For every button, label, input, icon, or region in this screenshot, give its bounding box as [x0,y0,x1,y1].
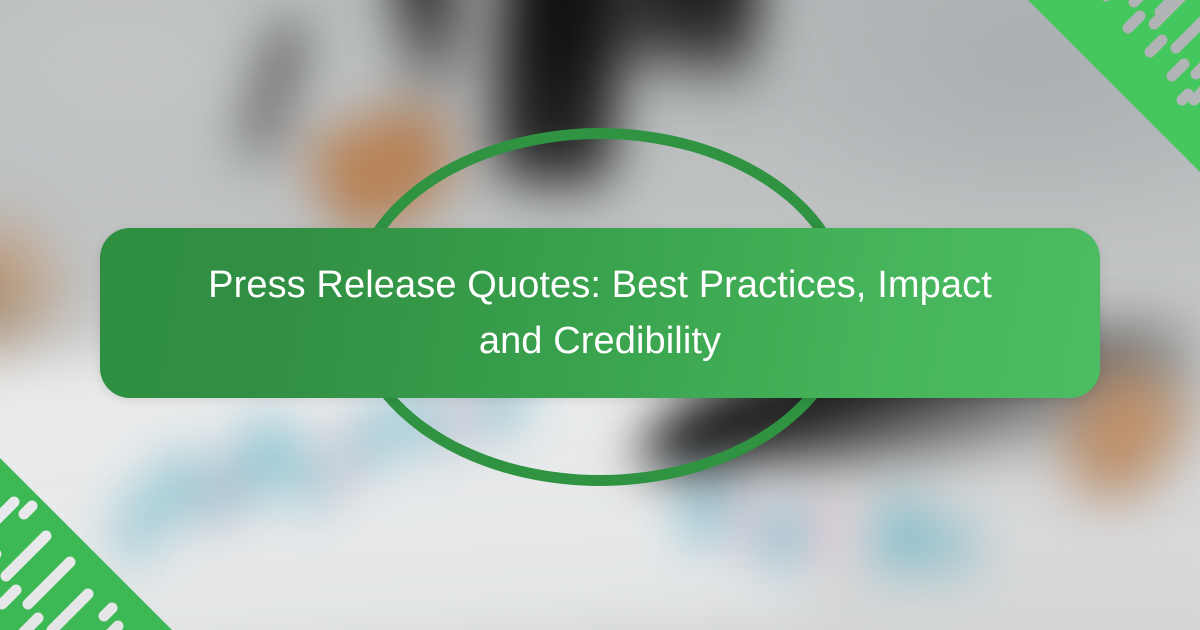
share-image-canvas: Press Release Quotes: Best Practices, Im… [0,0,1200,630]
dark-silhouette [382,0,470,113]
chart-mark [881,500,922,571]
chart-mark [938,521,967,571]
chart-mark [813,495,836,562]
page-title: Press Release Quotes: Best Practices, Im… [205,257,995,369]
dark-silhouette [619,0,771,101]
title-banner: Press Release Quotes: Best Practices, Im… [100,228,1100,398]
dark-stick-shape [240,19,306,160]
